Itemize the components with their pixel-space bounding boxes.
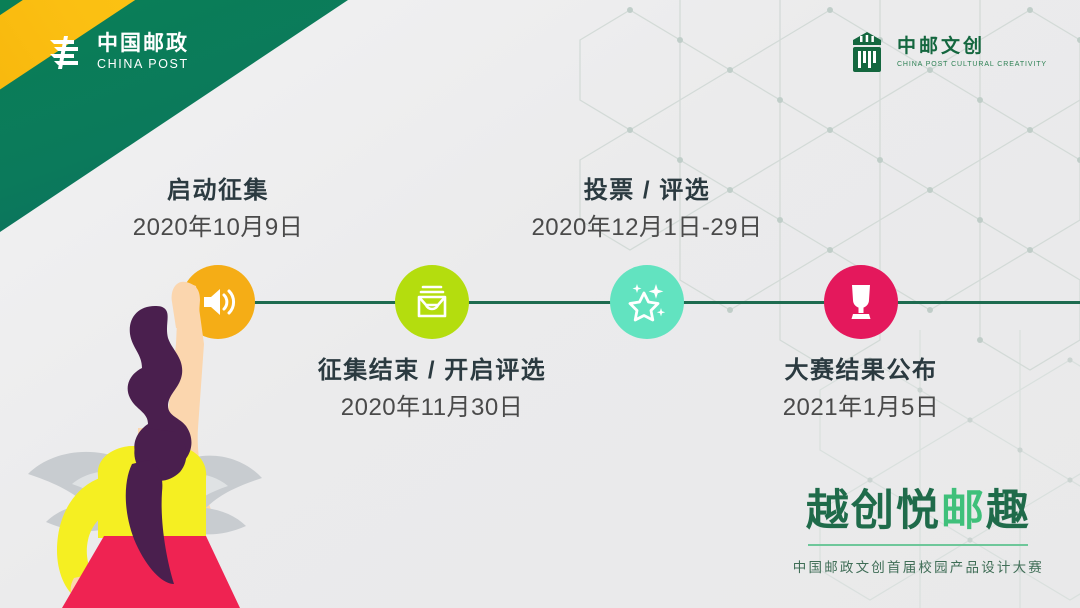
timeline-label-4: 大赛结果公布 2021年1月5日 bbox=[752, 358, 970, 422]
china-post-cultural-logo: 中邮文创 CHINA POST CULTURAL CREATIVITY bbox=[847, 31, 1047, 73]
timeline-label-1-date: 2020年10月9日 bbox=[98, 215, 338, 241]
timeline-label-1-title: 启动征集 bbox=[98, 178, 338, 204]
cultural-wordmark: 中邮文创 CHINA POST CULTURAL CREATIVITY bbox=[897, 37, 1047, 68]
brand-subtitle: 中国邮政文创首届校园产品设计大赛 bbox=[793, 556, 1044, 576]
timeline-label-1: 启动征集 2020年10月9日 bbox=[98, 178, 338, 242]
timeline-node-4[interactable] bbox=[824, 265, 898, 339]
megaphone-speaker-icon bbox=[198, 282, 238, 322]
timeline-label-3: 投票 / 评选 2020年12月1日-29日 bbox=[518, 178, 776, 242]
poster-canvas: 大赛时间轴 中国邮政 CHINA POST bbox=[0, 0, 1080, 608]
brand-divider bbox=[808, 544, 1028, 546]
china-post-horn-mark-icon bbox=[44, 32, 86, 72]
brand-title: 越创悦邮趣 bbox=[793, 490, 1044, 533]
brand-title-part-3: 趣 bbox=[986, 487, 1031, 535]
china-post-name-en: CHINA POST bbox=[97, 58, 189, 71]
timeline-label-4-title: 大赛结果公布 bbox=[752, 358, 970, 384]
timeline-label-4-date: 2021年1月5日 bbox=[752, 395, 970, 421]
china-post-name-cn: 中国邮政 bbox=[97, 33, 189, 54]
cultural-name-en: CHINA POST CULTURAL CREATIVITY bbox=[897, 61, 1047, 68]
brand-title-part-1: 越创悦 bbox=[806, 487, 941, 535]
timeline-node-3[interactable] bbox=[610, 265, 684, 339]
trophy-icon bbox=[842, 282, 880, 322]
postbox-crown-mark-icon bbox=[847, 31, 887, 73]
timeline-label-2: 征集结束 / 开启评选 2020年11月30日 bbox=[306, 358, 558, 422]
cultural-name-cn: 中邮文创 bbox=[897, 37, 1047, 56]
brand-title-part-2: 邮 bbox=[941, 487, 986, 535]
timeline-label-2-date: 2020年11月30日 bbox=[306, 395, 558, 421]
timeline-label-2-title: 征集结束 / 开启评选 bbox=[306, 358, 558, 384]
timeline-node-2[interactable] bbox=[395, 265, 469, 339]
competition-brand-lockup: 越创悦邮趣 中国邮政文创首届校园产品设计大赛 bbox=[793, 490, 1044, 576]
timeline-node-1[interactable] bbox=[181, 265, 255, 339]
china-post-logo: 中国邮政 CHINA POST bbox=[44, 32, 189, 72]
china-post-wordmark: 中国邮政 CHINA POST bbox=[97, 33, 189, 71]
inbox-tray-icon bbox=[412, 283, 452, 321]
timeline-label-3-date: 2020年12月1日-29日 bbox=[518, 215, 776, 241]
timeline-label-3-title: 投票 / 评选 bbox=[518, 178, 776, 204]
star-sparkle-icon bbox=[625, 280, 669, 324]
